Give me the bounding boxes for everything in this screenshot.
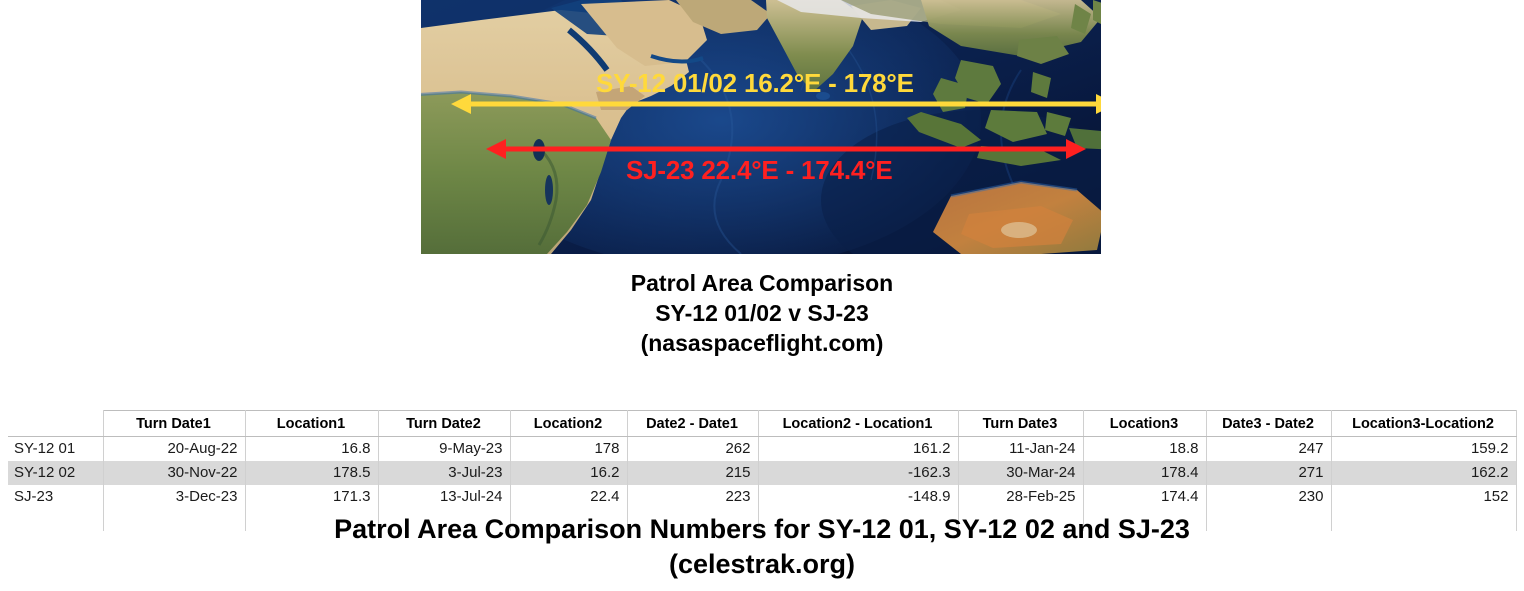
cell-location3: 174.4	[1083, 485, 1206, 509]
cell-location1: 178.5	[245, 461, 378, 485]
column-header-turn-date2: Turn Date2	[378, 411, 510, 437]
column-header-turn-date1: Turn Date1	[103, 411, 245, 437]
cell-turn-date1: 20-Aug-22	[103, 437, 245, 461]
cell-location3-minus-location2: 159.2	[1331, 437, 1516, 461]
column-header-location3: Location3	[1083, 411, 1206, 437]
satellite-earth-map-image	[421, 0, 1101, 254]
table-caption-line-2: (celestrak.org)	[0, 547, 1524, 582]
table-caption: Patrol Area Comparison Numbers for SY-12…	[0, 512, 1524, 582]
map-figure-caption: Patrol Area Comparison SY-12 01/02 v SJ-…	[0, 268, 1524, 358]
table-row: SY-12 01 20-Aug-22 16.8 9-May-23 178 262…	[8, 437, 1516, 461]
cell-turn-date3: 30-Mar-24	[958, 461, 1083, 485]
cell-turn-date1: 30-Nov-22	[103, 461, 245, 485]
column-header-location2-minus-location1: Location2 - Location1	[758, 411, 958, 437]
column-header-turn-date3: Turn Date3	[958, 411, 1083, 437]
column-header-location1: Location1	[245, 411, 378, 437]
sj23-range-label: SJ-23 22.4°E - 174.4°E	[626, 155, 892, 186]
cell-location2: 22.4	[510, 485, 627, 509]
column-header-location2: Location2	[510, 411, 627, 437]
table-row: SY-12 02 30-Nov-22 178.5 3-Jul-23 16.2 2…	[8, 461, 1516, 485]
map-caption-line-1: Patrol Area Comparison	[0, 268, 1524, 298]
cell-location3-minus-location2: 162.2	[1331, 461, 1516, 485]
map-caption-line-2: SY-12 01/02 v SJ-23	[0, 298, 1524, 328]
column-header-location3-minus-location2: Location3-Location2	[1331, 411, 1516, 437]
table-row: SJ-23 3-Dec-23 171.3 13-Jul-24 22.4 223 …	[8, 485, 1516, 509]
row-label: SY-12 01	[8, 437, 103, 461]
cell-turn-date3: 11-Jan-24	[958, 437, 1083, 461]
cell-date2-minus-date1: 215	[627, 461, 758, 485]
cell-date2-minus-date1: 262	[627, 437, 758, 461]
cell-location2-minus-location1: 161.2	[758, 437, 958, 461]
map-caption-line-3: (nasaspaceflight.com)	[0, 328, 1524, 358]
patrol-area-map-figure: SY-12 01/02 16.2°E - 178°E SJ-23 22.4°E …	[421, 0, 1101, 254]
table-header-row: Turn Date1 Location1 Turn Date2 Location…	[8, 411, 1516, 437]
sy12-range-label: SY-12 01/02 16.2°E - 178°E	[596, 68, 914, 99]
cell-location1: 16.8	[245, 437, 378, 461]
cell-date3-minus-date2: 247	[1206, 437, 1331, 461]
row-label: SJ-23	[8, 485, 103, 509]
row-label: SY-12 02	[8, 461, 103, 485]
cell-turn-date2: 9-May-23	[378, 437, 510, 461]
cell-turn-date2: 13-Jul-24	[378, 485, 510, 509]
cell-turn-date1: 3-Dec-23	[103, 485, 245, 509]
cell-location2: 16.2	[510, 461, 627, 485]
table-header: Turn Date1 Location1 Turn Date2 Location…	[8, 411, 1516, 437]
cell-location3-minus-location2: 152	[1331, 485, 1516, 509]
cell-location1: 171.3	[245, 485, 378, 509]
table-corner-cell	[8, 411, 103, 437]
cell-date3-minus-date2: 230	[1206, 485, 1331, 509]
cell-date2-minus-date1: 223	[627, 485, 758, 509]
table-caption-line-1: Patrol Area Comparison Numbers for SY-12…	[0, 512, 1524, 547]
column-header-date3-minus-date2: Date3 - Date2	[1206, 411, 1331, 437]
cell-location3: 178.4	[1083, 461, 1206, 485]
cell-location2: 178	[510, 437, 627, 461]
cell-turn-date3: 28-Feb-25	[958, 485, 1083, 509]
cell-date3-minus-date2: 271	[1206, 461, 1331, 485]
cell-turn-date2: 3-Jul-23	[378, 461, 510, 485]
cell-location2-minus-location1: -148.9	[758, 485, 958, 509]
column-header-date2-minus-date1: Date2 - Date1	[627, 411, 758, 437]
cell-location3: 18.8	[1083, 437, 1206, 461]
cell-location2-minus-location1: -162.3	[758, 461, 958, 485]
